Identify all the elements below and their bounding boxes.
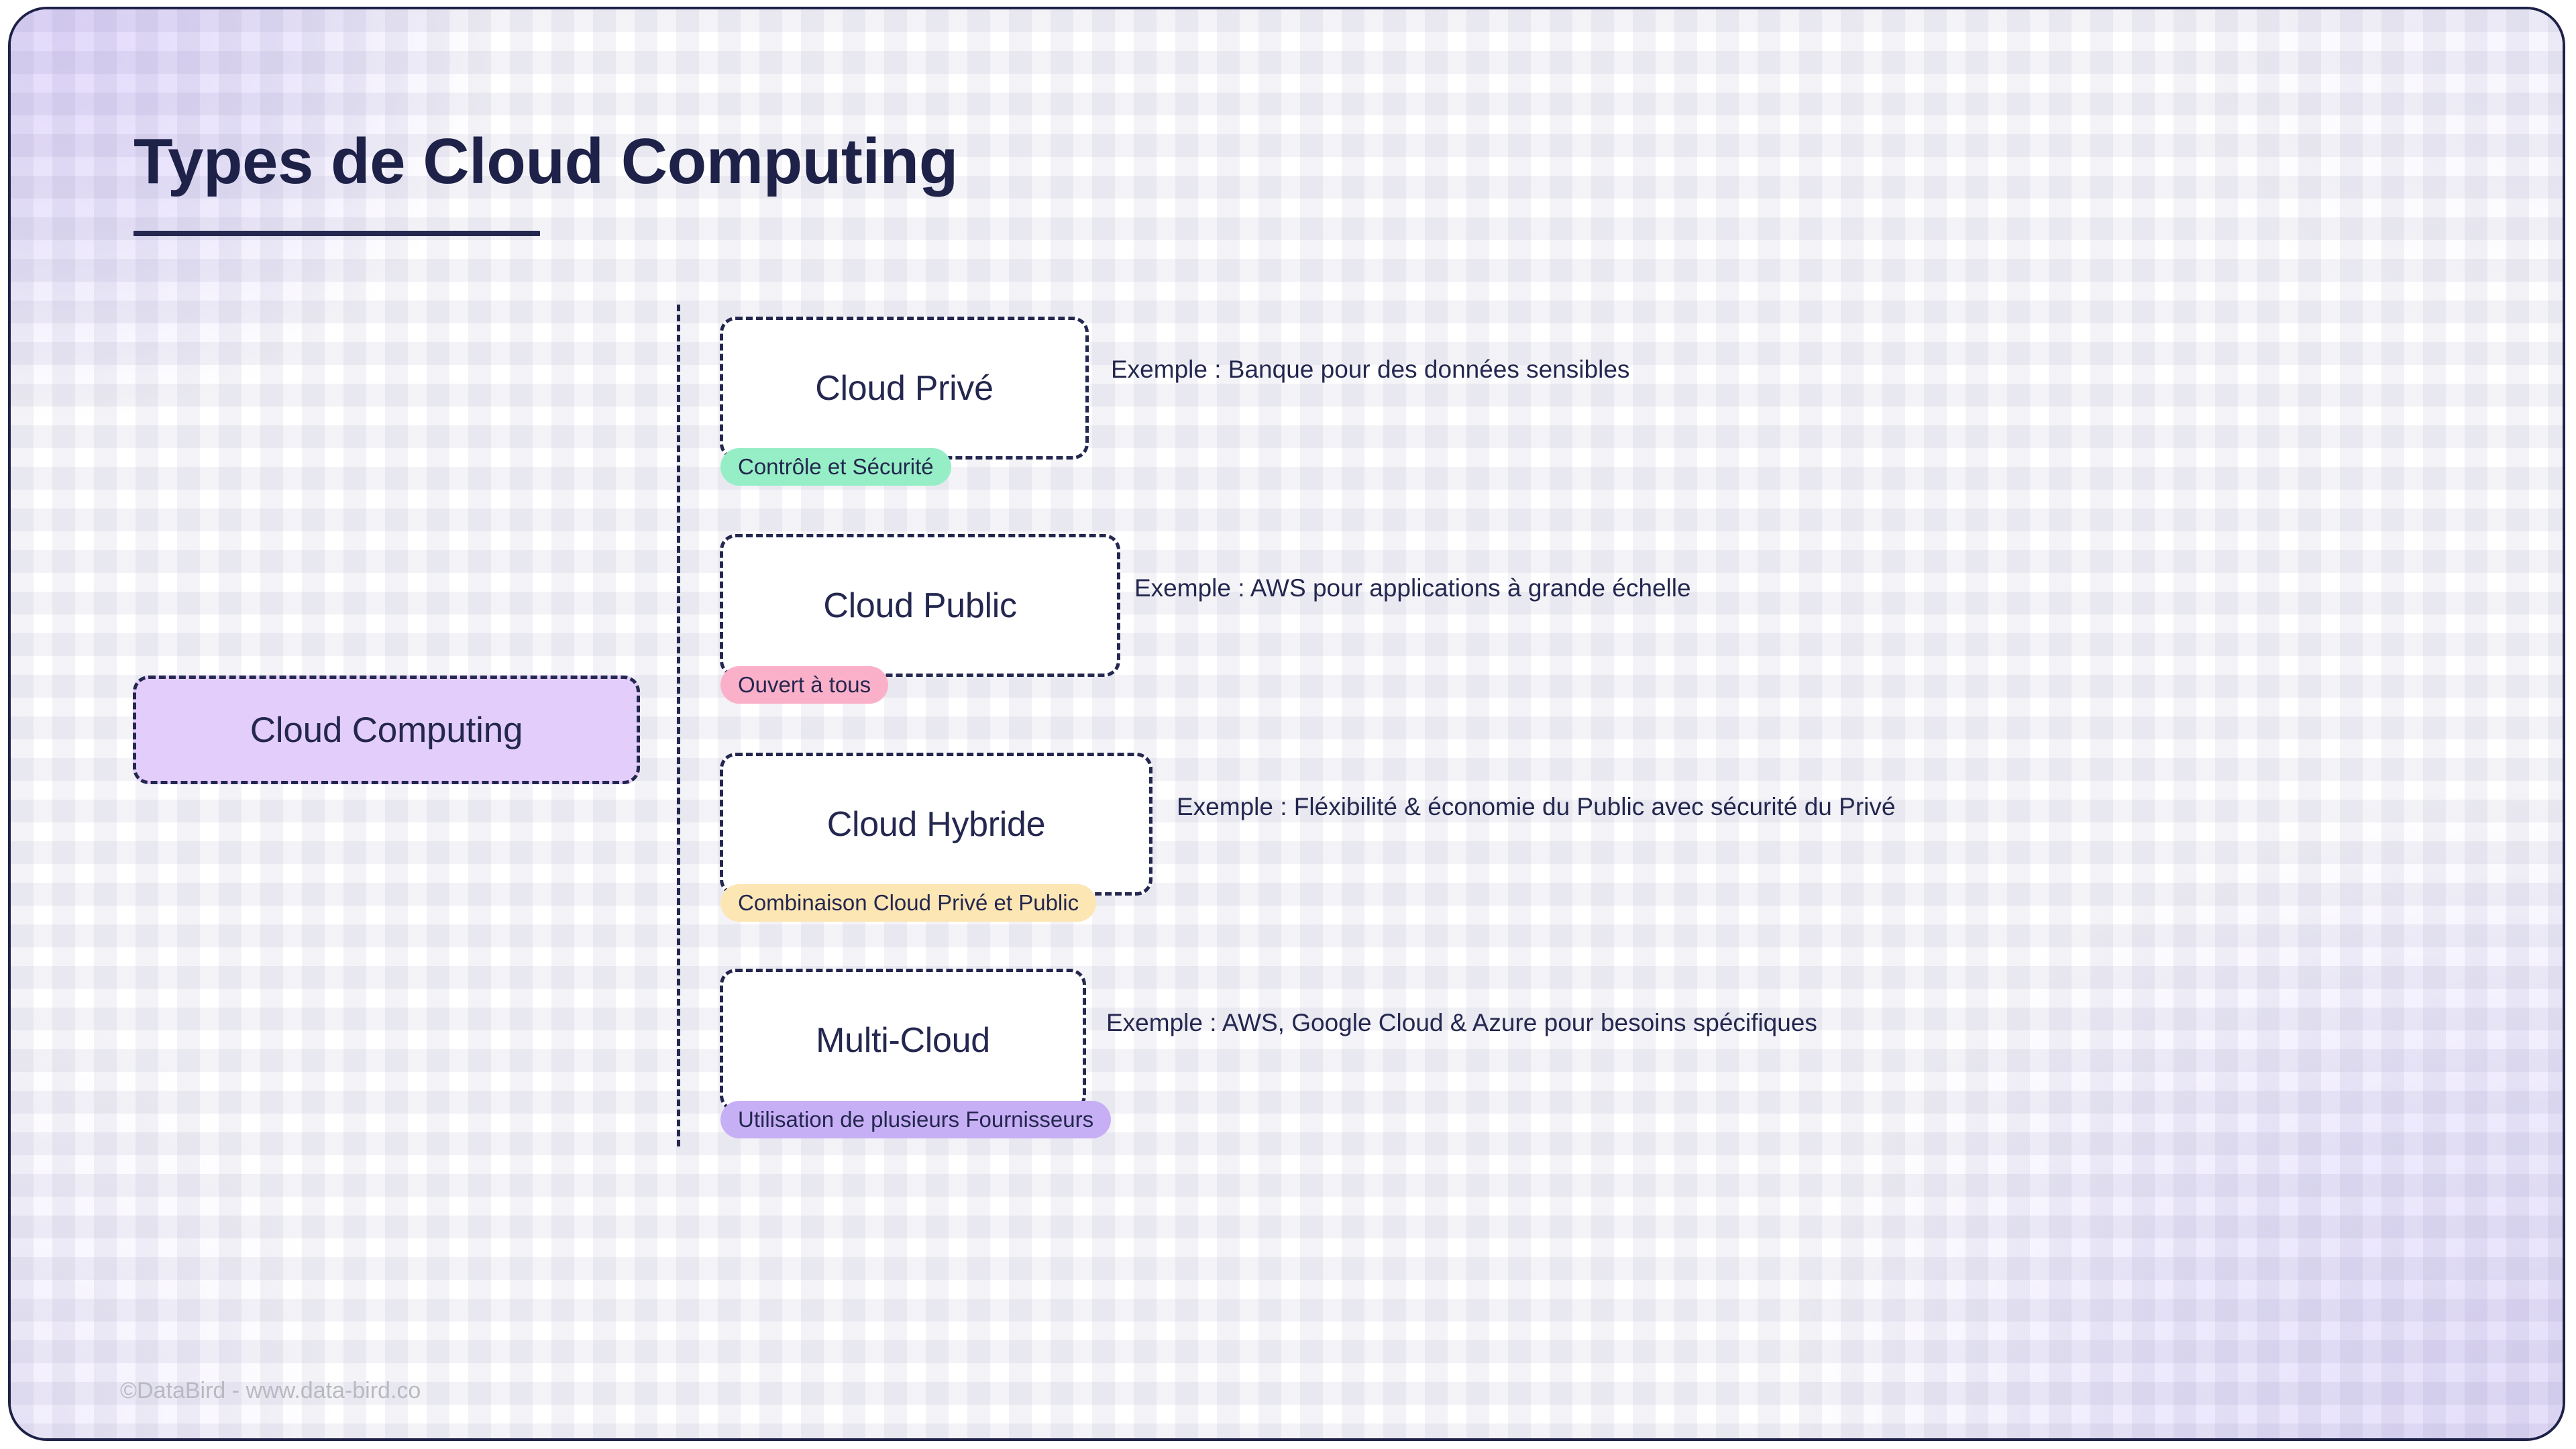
branch-example-4: Exemple : AWS, Google Cloud & Azure pour… — [1106, 1009, 1817, 1037]
footer-watermark: ©DataBird - www.data-bird.co — [120, 1378, 421, 1404]
connector-spine — [677, 305, 680, 1146]
branch-box-1[interactable]: Cloud Privé — [720, 317, 1089, 460]
page-title: Types de Cloud Computing — [133, 125, 958, 199]
branch-example-3: Exemple : Fléxibilité & économie du Publ… — [1177, 793, 1895, 821]
branch-tag-1: Contrôle et Sécurité — [720, 448, 951, 486]
slide-content: Types de Cloud Computing Cloud Computing… — [11, 9, 2563, 1438]
branch-example-2: Exemple : AWS pour applications à grande… — [1134, 574, 1691, 602]
branch-label-2: Cloud Public — [823, 586, 1016, 626]
branch-tag-3: Combinaison Cloud Privé et Public — [720, 884, 1096, 922]
title-underline — [133, 231, 540, 236]
root-node-cloud-computing[interactable]: Cloud Computing — [133, 676, 640, 784]
slide-card: Types de Cloud Computing Cloud Computing… — [8, 7, 2565, 1441]
branch-label-1: Cloud Privé — [815, 368, 994, 409]
branch-box-3[interactable]: Cloud Hybride — [720, 753, 1152, 896]
branch-example-1: Exemple : Banque pour des données sensib… — [1111, 356, 1629, 384]
branch-tag-4: Utilisation de plusieurs Fournisseurs — [720, 1101, 1111, 1138]
root-node-label: Cloud Computing — [250, 710, 523, 751]
branch-label-4: Multi-Cloud — [816, 1020, 990, 1061]
branch-box-2[interactable]: Cloud Public — [720, 534, 1120, 677]
branch-box-4[interactable]: Multi-Cloud — [720, 969, 1086, 1112]
branch-label-3: Cloud Hybride — [827, 804, 1046, 845]
branch-tag-2: Ouvert à tous — [720, 666, 888, 704]
